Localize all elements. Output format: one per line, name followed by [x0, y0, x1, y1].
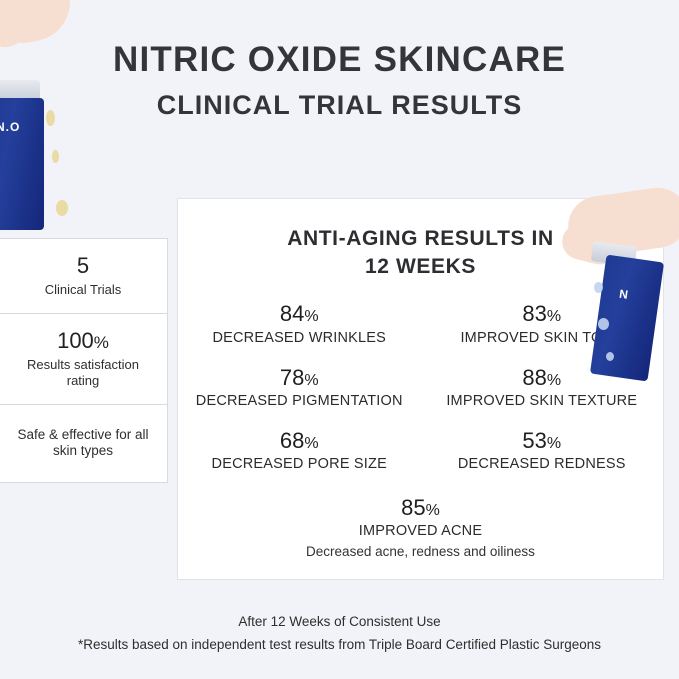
headline-line-2: CLINICAL TRIAL RESULTS	[0, 91, 679, 119]
result-percent: %	[547, 435, 561, 452]
result-value: 53%	[427, 429, 658, 453]
result-value: 68%	[184, 429, 415, 453]
result-percent: %	[304, 372, 318, 389]
result-label: DECREASED PORE SIZE	[184, 456, 415, 472]
result-label: IMPROVED SKIN TONE	[427, 330, 658, 346]
page-title: NITRIC OXIDE SKINCARE CLINICAL TRIAL RES…	[0, 42, 679, 119]
results-card-title: ANTI-AGING RESULTS IN 12 WEEKS	[178, 199, 663, 280]
result-value: 84%	[184, 302, 415, 326]
stat-card-clinical-trials: 5 Clinical Trials	[0, 238, 168, 314]
footer-line-2: *Results based on independent test resul…	[0, 637, 679, 652]
result-number: 88	[522, 365, 546, 390]
result-item-redness: 53% DECREASED REDNESS	[421, 429, 664, 472]
result-percent: %	[304, 435, 318, 452]
footer: After 12 Weeks of Consistent Use *Result…	[0, 614, 679, 652]
result-item-skin-texture: 88% IMPROVED SKIN TEXTURE	[421, 366, 664, 409]
serum-drop	[56, 200, 68, 216]
result-number: 53	[522, 428, 546, 453]
result-item-pigmentation: 78% DECREASED PIGMENTATION	[178, 366, 421, 409]
results-grid: 84% DECREASED WRINKLES 83% IMPROVED SKIN…	[178, 302, 663, 559]
result-number: 83	[522, 301, 546, 326]
result-number: 85	[401, 495, 425, 520]
result-number: 78	[280, 365, 304, 390]
result-percent: %	[304, 308, 318, 325]
result-value: 85%	[178, 496, 663, 520]
result-percent: %	[547, 372, 561, 389]
stat-card-satisfaction: 100% Results satisfaction rating	[0, 314, 168, 405]
footer-line-1: After 12 Weeks of Consistent Use	[0, 614, 679, 629]
stat-percent: %	[94, 333, 109, 352]
result-sublabel: Decreased acne, redness and oiliness	[178, 544, 663, 559]
stat-label: Results satisfaction rating	[9, 357, 157, 390]
result-item-wrinkles: 84% DECREASED WRINKLES	[178, 302, 421, 345]
result-label: DECREASED PIGMENTATION	[184, 393, 415, 409]
result-value: 88%	[427, 366, 658, 390]
result-percent: %	[426, 502, 440, 519]
result-value: 78%	[184, 366, 415, 390]
results-title-line-2: 12 WEEKS	[178, 253, 663, 281]
headline-line-1: NITRIC OXIDE SKINCARE	[0, 42, 679, 79]
stat-number: 100	[57, 328, 94, 353]
results-title-line-1: ANTI-AGING RESULTS IN	[178, 225, 663, 253]
stat-label: Clinical Trials	[9, 282, 157, 298]
result-number: 84	[280, 301, 304, 326]
result-item-acne: 85% IMPROVED ACNE Decreased acne, rednes…	[178, 496, 663, 559]
result-value: 83%	[427, 302, 658, 326]
result-label: IMPROVED ACNE	[178, 523, 663, 539]
result-label: DECREASED REDNESS	[427, 456, 658, 472]
result-number: 68	[280, 428, 304, 453]
results-card: ANTI-AGING RESULTS IN 12 WEEKS 84% DECRE…	[177, 198, 664, 580]
stat-number: 5	[77, 253, 89, 278]
stat-card-safe-effective: Safe & effective for all skin types	[0, 405, 168, 484]
result-item-skin-tone: 83% IMPROVED SKIN TONE	[421, 302, 664, 345]
serum-drop	[52, 150, 59, 163]
result-item-pore-size: 68% DECREASED PORE SIZE	[178, 429, 421, 472]
result-label: DECREASED WRINKLES	[184, 330, 415, 346]
stat-value: 100%	[9, 328, 157, 354]
result-label: IMPROVED SKIN TEXTURE	[427, 393, 658, 409]
bottle-label: N.O	[0, 120, 20, 134]
result-percent: %	[547, 308, 561, 325]
stat-label: Safe & effective for all skin types	[9, 427, 157, 461]
left-stats-column: 5 Clinical Trials 100% Results satisfact…	[0, 238, 166, 483]
stat-value: 5	[9, 253, 157, 279]
